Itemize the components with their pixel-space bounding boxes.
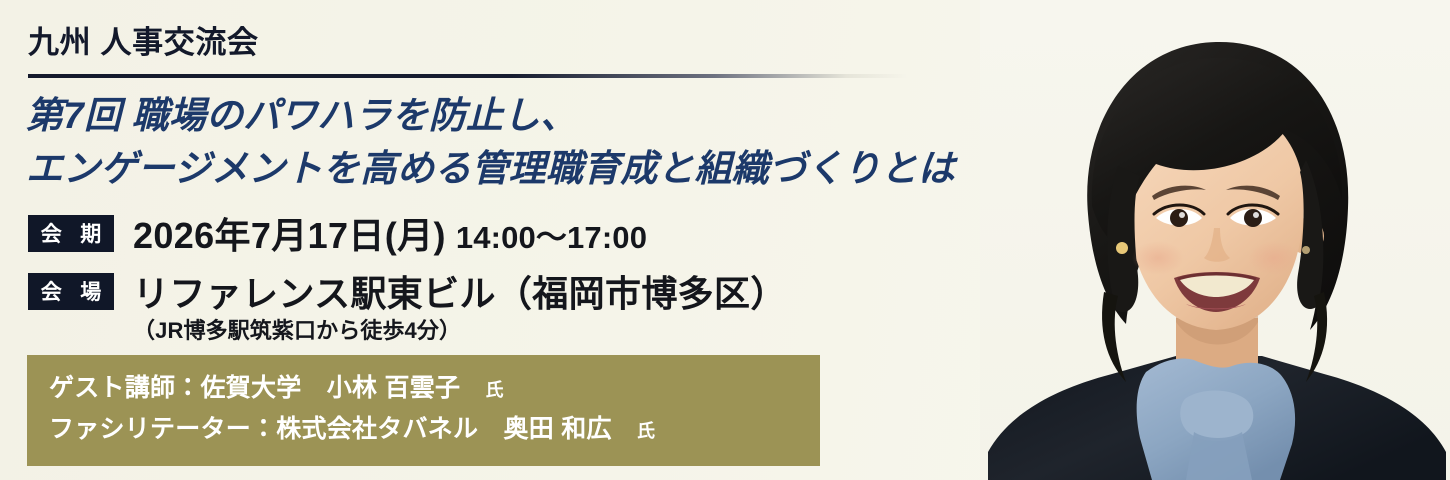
guest-speaker-org: 佐賀大学 [201,374,302,402]
venue-label-badge: 会 場 [28,273,114,310]
event-date-row: 会 期 2026年7月17日(月)14:00〜17:00 [28,207,647,259]
event-date-value: 2026年7月17日(月)14:00〜17:00 [133,207,647,259]
guest-speaker-name: 小林 百雲子 [327,374,460,402]
speaker-portrait-photo [980,0,1450,480]
headline-line-2: エンゲージメントを高める管理職育成と組織づくりとは [26,143,976,196]
facilitator-label: ファシリテーター： [49,415,276,443]
guest-speaker-line: ゲスト講師：佐賀大学 小林 百雲子 氏 [49,368,820,409]
banner-text-column: 九州 人事交流会 第7回 職場のパワハラを防止し、 エンゲージメントを高める管理… [0,0,1000,480]
event-series-title: 九州 人事交流会 [28,17,259,62]
event-date-text: 2026年7月17日(月) [133,215,446,256]
venue-access-note: （JR博多駅筑紫口から徒歩4分） [133,313,461,345]
event-time-text: 14:00〜17:00 [456,220,647,255]
speakers-box: ゲスト講師：佐賀大学 小林 百雲子 氏 ファシリテーター：株式会社タバネル 奥田… [27,355,820,466]
facilitator-suffix: 氏 [637,421,655,441]
event-venue-value: リファレンス駅東ビル（福岡市博多区） [133,265,787,317]
headline-line-1: 第7回 職場のパワハラを防止し、 [26,95,577,136]
facilitator-name: 奥田 和広 [504,415,612,443]
header-divider [28,74,908,78]
facilitator-org: 株式会社タバネル [276,415,478,443]
page-title: 第7回 職場のパワハラを防止し、 エンゲージメントを高める管理職育成と組織づくり… [26,90,976,195]
facilitator-line: ファシリテーター：株式会社タバネル 奥田 和広 氏 [49,409,820,450]
date-label-badge: 会 期 [28,215,114,252]
guest-speaker-suffix: 氏 [486,380,504,400]
seminar-banner: 九州 人事交流会 第7回 職場のパワハラを防止し、 エンゲージメントを高める管理… [0,0,1450,480]
guest-speaker-label: ゲスト講師： [49,374,201,402]
event-venue-row: 会 場 リファレンス駅東ビル（福岡市博多区） [28,265,787,317]
